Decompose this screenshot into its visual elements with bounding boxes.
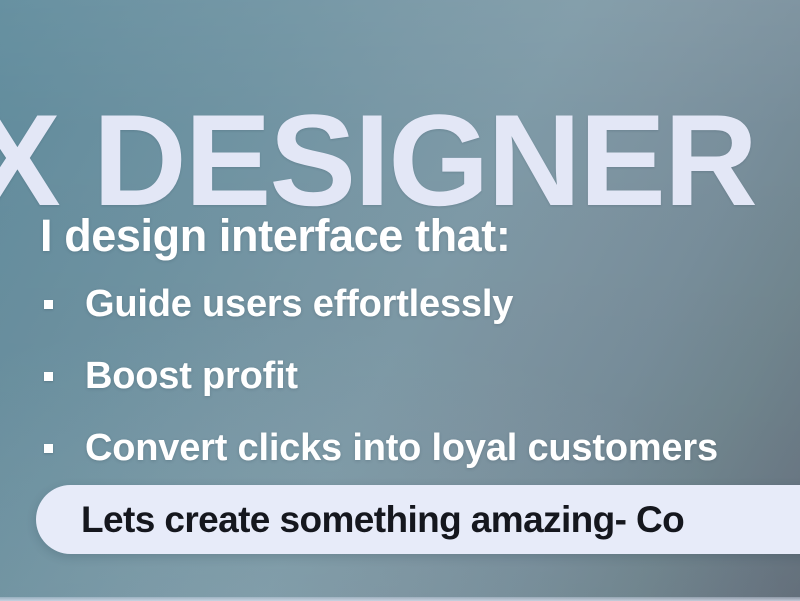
contact-cta-button[interactable]: Lets create something amazing- Co [36, 485, 800, 554]
list-item: Guide users effortlessly [44, 268, 718, 340]
subheading: I design interface that: [40, 213, 510, 258]
square-bullet-icon [44, 300, 53, 309]
list-item-label: Boost profit [85, 357, 298, 395]
list-item: Convert clicks into loyal customers [44, 412, 718, 484]
promo-banner: X DESIGNER I design interface that: Guid… [0, 0, 800, 601]
bottom-edge-divider [0, 597, 800, 601]
contact-cta-label: Lets create something amazing- Co [81, 501, 684, 538]
list-item-label: Convert clicks into loyal customers [85, 429, 718, 467]
value-proposition-list: Guide users effortlessly Boost profit Co… [44, 268, 718, 484]
list-item-label: Guide users effortlessly [85, 285, 513, 323]
square-bullet-icon [44, 444, 53, 453]
page-title: X DESIGNER [0, 95, 756, 225]
square-bullet-icon [44, 372, 53, 381]
list-item: Boost profit [44, 340, 718, 412]
